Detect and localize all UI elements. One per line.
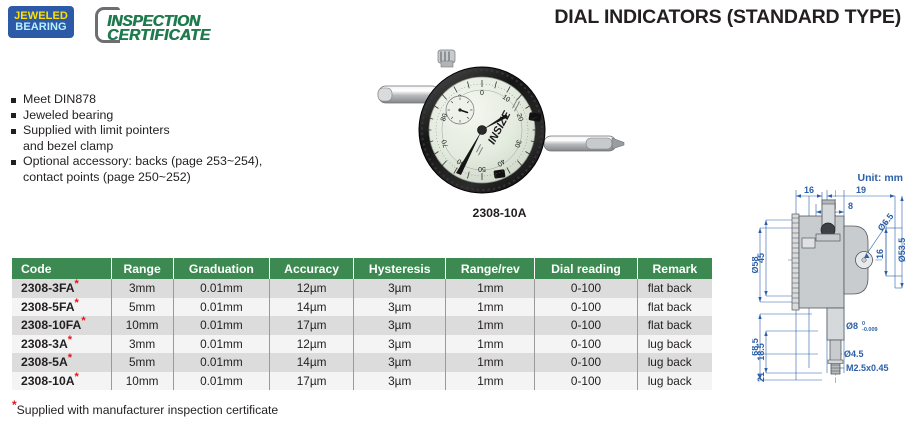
asterisk-marker: * bbox=[68, 352, 72, 364]
dim-top-19: 19 bbox=[856, 185, 866, 195]
dim-thread: M2.5x0.45 bbox=[846, 363, 889, 373]
cell-dial-reading: 0-100 bbox=[535, 335, 637, 354]
cell-remark: flat back bbox=[637, 279, 712, 298]
feature-list: Meet DIN878 Jeweled bearing Supplied wit… bbox=[10, 92, 310, 185]
cell-range-per-rev: 1mm bbox=[446, 298, 535, 317]
dim-dia-4.5: Ø4.5 bbox=[844, 349, 864, 359]
table-row: 2308-10A* 10mm 0.01mm 17µm 3µm 1mm 0-100… bbox=[12, 372, 712, 391]
table-row: 2308-5A* 5mm 0.01mm 14µm 3µm 1mm 0-100 l… bbox=[12, 353, 712, 372]
indicator-cross-section bbox=[792, 200, 873, 374]
column-header-range: Range bbox=[111, 258, 173, 279]
column-header-code: Code bbox=[12, 258, 111, 279]
asterisk-marker: * bbox=[81, 315, 85, 327]
asterisk-marker: * bbox=[75, 278, 79, 290]
cell-code: 2308-5FA* bbox=[12, 298, 111, 317]
dim-dia-8-value: Ø8 bbox=[846, 321, 858, 331]
feature-text: Jeweled bearing bbox=[23, 108, 113, 122]
cell-remark: flat back bbox=[637, 316, 712, 335]
feature-text-cont: and bezel clamp bbox=[23, 139, 310, 154]
cell-dial-reading: 0-100 bbox=[535, 298, 637, 317]
column-header-graduation: Graduation bbox=[173, 258, 269, 279]
table-header-row: Code Range Graduation Accuracy Hysteresi… bbox=[12, 258, 712, 279]
cell-range: 10mm bbox=[111, 372, 173, 391]
cell-hysteresis: 3µm bbox=[354, 372, 446, 391]
cell-range-per-rev: 1mm bbox=[446, 316, 535, 335]
cell-remark: lug back bbox=[637, 335, 712, 354]
cell-graduation: 0.01mm bbox=[173, 353, 269, 372]
asterisk-marker: * bbox=[75, 297, 79, 309]
cell-hysteresis: 3µm bbox=[354, 335, 446, 354]
cell-range: 5mm bbox=[111, 298, 173, 317]
jeweled-badge-line2: BEARING bbox=[15, 22, 66, 33]
column-header-dial-reading: Dial reading bbox=[535, 258, 637, 279]
cell-graduation: 0.01mm bbox=[173, 372, 269, 391]
cell-code: 2308-10FA* bbox=[12, 316, 111, 335]
column-header-range-per-rev: Range/rev bbox=[446, 258, 535, 279]
list-item: Meet DIN878 bbox=[10, 92, 310, 107]
asterisk-marker: * bbox=[75, 371, 79, 383]
cell-accuracy: 17µm bbox=[270, 316, 354, 335]
code-value: 2308-5FA bbox=[21, 300, 75, 314]
dim-dia-58: Ø58 bbox=[752, 256, 760, 273]
technical-drawing: 16 19 8 45 Ø58 68.5 18.5 21 Ø6.5 16 Ø53.… bbox=[752, 168, 909, 390]
inspection-certificate-text: INSPECTION CERTIFICATE bbox=[107, 15, 210, 43]
dim-lug-16: 16 bbox=[875, 249, 885, 259]
cell-dial-reading: 0-100 bbox=[535, 316, 637, 335]
column-header-remark: Remark bbox=[637, 258, 712, 279]
cell-hysteresis: 3µm bbox=[354, 353, 446, 372]
cell-code: 2308-5A* bbox=[12, 353, 111, 372]
cell-remark: lug back bbox=[637, 372, 712, 391]
cell-graduation: 0.01mm bbox=[173, 298, 269, 317]
footnote: *Supplied with manufacturer inspection c… bbox=[12, 403, 278, 417]
inspection-line2: CERTIFICATE bbox=[107, 29, 210, 43]
svg-text:0: 0 bbox=[480, 90, 484, 97]
cell-range-per-rev: 1mm bbox=[446, 353, 535, 372]
cell-range: 5mm bbox=[111, 353, 173, 372]
cell-accuracy: 12µm bbox=[270, 335, 354, 354]
dim-stem-18.5: 18.5 bbox=[756, 343, 766, 361]
list-item: Jeweled bearing bbox=[10, 108, 310, 123]
cell-range: 3mm bbox=[111, 279, 173, 298]
specifications-table: Code Range Graduation Accuracy Hysteresi… bbox=[12, 258, 712, 390]
cell-range: 3mm bbox=[111, 335, 173, 354]
list-item: Optional accessory: backs (page 253~254)… bbox=[10, 154, 310, 184]
contact-stem bbox=[544, 136, 624, 151]
product-caption: 2308-10A bbox=[372, 206, 627, 220]
bezel-clamp-knob bbox=[438, 50, 455, 67]
cell-accuracy: 14µm bbox=[270, 353, 354, 372]
cell-remark: lug back bbox=[637, 353, 712, 372]
cell-dial-reading: 0-100 bbox=[535, 279, 637, 298]
dim-top-16: 16 bbox=[804, 185, 814, 195]
cell-dial-reading: 0-100 bbox=[535, 353, 637, 372]
dim-dia-8-sub: -0.009 bbox=[862, 327, 878, 333]
list-item: Supplied with limit pointers and bezel c… bbox=[10, 123, 310, 153]
code-value: 2308-3FA bbox=[21, 281, 75, 295]
cell-range: 10mm bbox=[111, 316, 173, 335]
asterisk-marker: * bbox=[68, 334, 72, 346]
revolution-counter bbox=[446, 96, 474, 124]
code-value: 2308-5A bbox=[21, 355, 68, 369]
dim-dia-53.5: Ø53.5 bbox=[897, 238, 907, 263]
inspection-certificate-badge: INSPECTION CERTIFICATE bbox=[95, 6, 245, 46]
table-row: 2308-10FA* 10mm 0.01mm 17µm 3µm 1mm 0-10… bbox=[12, 316, 712, 335]
feature-text-cont: contact points (page 250~252) bbox=[23, 170, 310, 185]
feature-text: Supplied with limit pointers bbox=[23, 123, 170, 137]
cell-accuracy: 17µm bbox=[270, 372, 354, 391]
column-header-hysteresis: Hysteresis bbox=[354, 258, 446, 279]
cell-range-per-rev: 1mm bbox=[446, 279, 535, 298]
cell-code: 2308-3A* bbox=[12, 335, 111, 354]
badge-row: JEWELED BEARING INSPECTION CERTIFICATE bbox=[8, 6, 245, 46]
jeweled-bearing-badge: JEWELED BEARING bbox=[8, 6, 74, 38]
svg-text:50: 50 bbox=[478, 165, 486, 172]
cell-remark: flat back bbox=[637, 298, 712, 317]
cell-graduation: 0.01mm bbox=[173, 335, 269, 354]
cell-accuracy: 12µm bbox=[270, 279, 354, 298]
page-title: DIAL INDICATORS (STANDARD TYPE) bbox=[554, 6, 901, 29]
table-row: 2308-3A* 3mm 0.01mm 12µm 3µm 1mm 0-100 l… bbox=[12, 335, 712, 354]
feature-text: Meet DIN878 bbox=[23, 92, 96, 106]
cell-graduation: 0.01mm bbox=[173, 279, 269, 298]
footnote-text: Supplied with manufacturer inspection ce… bbox=[17, 403, 279, 417]
cell-hysteresis: 3µm bbox=[354, 279, 446, 298]
cell-range-per-rev: 1mm bbox=[446, 335, 535, 354]
cell-dial-reading: 0-100 bbox=[535, 372, 637, 391]
product-photo: 0 10 20 30 40 50 60 70 80 90 INSIZE bbox=[372, 48, 627, 208]
code-value: 2308-10FA bbox=[21, 318, 81, 332]
cell-range-per-rev: 1mm bbox=[446, 372, 535, 391]
cell-code: 2308-10A* bbox=[12, 372, 111, 391]
cell-hysteresis: 3µm bbox=[354, 316, 446, 335]
code-value: 2308-3A bbox=[21, 337, 68, 351]
feature-text: Optional accessory: backs (page 253~254)… bbox=[23, 154, 262, 168]
dim-stem-8: 8 bbox=[848, 201, 853, 211]
column-header-accuracy: Accuracy bbox=[270, 258, 354, 279]
table-row: 2308-3FA* 3mm 0.01mm 12µm 3µm 1mm 0-100 … bbox=[12, 279, 712, 298]
cell-hysteresis: 3µm bbox=[354, 298, 446, 317]
dimension-drawing: 16 19 8 45 Ø58 68.5 18.5 21 Ø6.5 16 Ø53.… bbox=[752, 168, 909, 390]
dial-indicator-illustration: 0 10 20 30 40 50 60 70 80 90 INSIZE bbox=[372, 48, 627, 208]
cell-accuracy: 14µm bbox=[270, 298, 354, 317]
dim-dia-8-tolerance: Ø8 0 -0.009 bbox=[846, 321, 878, 333]
cell-graduation: 0.01mm bbox=[173, 316, 269, 335]
code-value: 2308-10A bbox=[21, 374, 75, 388]
cell-code: 2308-3FA* bbox=[12, 279, 111, 298]
table-row: 2308-5FA* 5mm 0.01mm 14µm 3µm 1mm 0-100 … bbox=[12, 298, 712, 317]
